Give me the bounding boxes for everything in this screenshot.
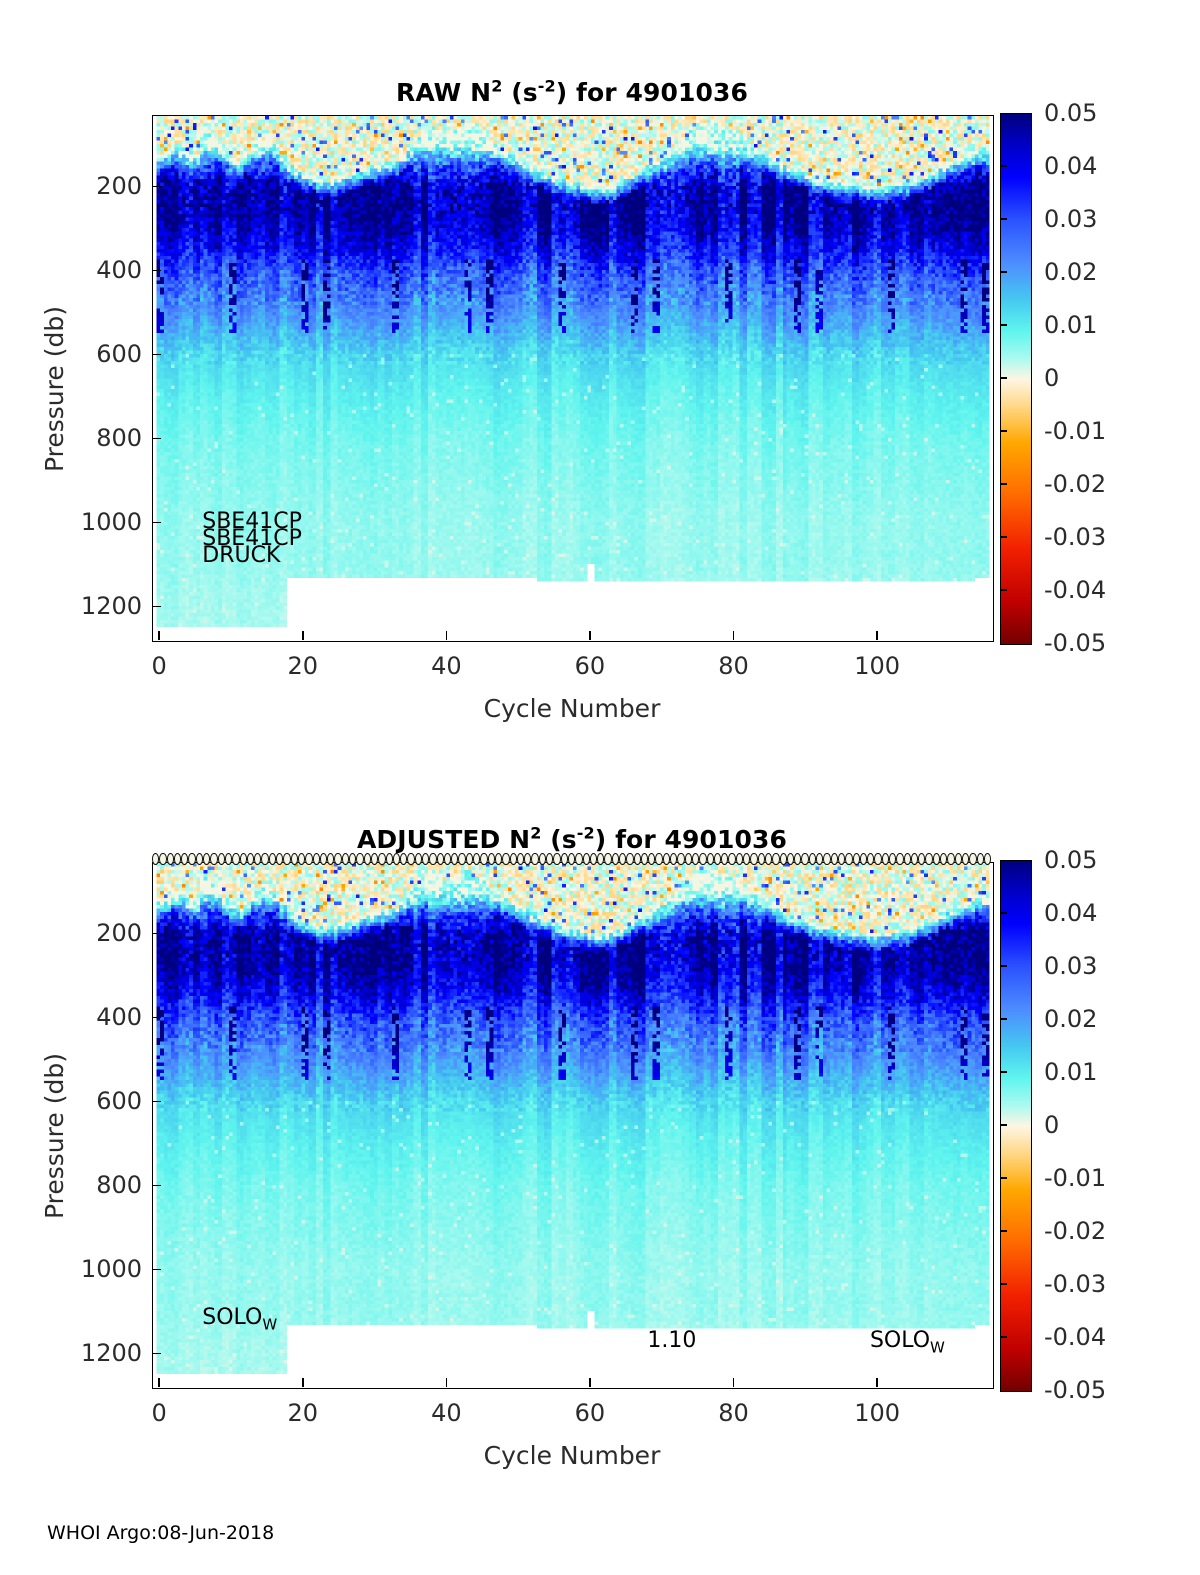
adjusted-yticklabel-1000: 1000: [54, 1255, 142, 1283]
raw-colorbar-label--0.03: -0.03: [1044, 523, 1106, 551]
adj-title-sup2: -2: [577, 824, 595, 843]
adjusted-xtick-40: [446, 1378, 448, 1387]
raw-ytick-1000: [152, 522, 161, 524]
adjusted-ytick-400: [152, 1017, 161, 1019]
adjusted-heatmap: [153, 863, 993, 1388]
raw-colorbar-tick-0.04: [1000, 165, 1007, 167]
raw-ytick-800: [152, 438, 161, 440]
adjusted-yaxis-title: Pressure (db): [40, 1053, 69, 1219]
adjusted-colorbar-label-0.03: 0.03: [1044, 952, 1097, 980]
adj-title-suffix: ) for 4901036: [595, 825, 787, 854]
raw-ytick-1200: [152, 606, 161, 608]
adjusted-annotation-subscript-2: W: [930, 1338, 945, 1356]
adj-title-sup1: 2: [530, 824, 541, 843]
adjusted-ytick-800: [152, 1185, 161, 1187]
raw-xticklabel-80: 80: [718, 652, 749, 680]
raw-panel-title: RAW N2 (s-2) for 4901036: [152, 78, 992, 107]
panel-adjusted: ADJUSTED N2 (s-2) for 4901036 0204060801…: [0, 745, 1200, 1535]
raw-yticklabel-400: 400: [54, 256, 142, 284]
adjusted-colorbar-label--0.04: -0.04: [1044, 1323, 1106, 1351]
raw-xticklabel-100: 100: [854, 652, 900, 680]
adjusted-colorbar-label-0.04: 0.04: [1044, 899, 1097, 927]
raw-title-mid: (s: [502, 78, 537, 107]
raw-colorbar-label-0.04: 0.04: [1044, 152, 1097, 180]
raw-colorbar-label--0.01: -0.01: [1044, 417, 1106, 445]
adjusted-xtick-20: [302, 1378, 304, 1387]
adjusted-yticklabel-1200: 1200: [54, 1339, 142, 1367]
raw-xtick-0: [158, 631, 160, 640]
figure-footer: WHOI Argo:08-Jun-2018: [47, 1522, 274, 1544]
raw-colorbar-label--0.02: -0.02: [1044, 470, 1106, 498]
raw-title-sup1: 2: [491, 77, 502, 96]
adjusted-xtick-60: [589, 1378, 591, 1387]
raw-yticklabel-1000: 1000: [54, 508, 142, 536]
adjusted-xticklabel-0: 0: [152, 1399, 167, 1427]
adjusted-panel-title: ADJUSTED N2 (s-2) for 4901036: [152, 825, 992, 854]
raw-colorbar-label-0: 0: [1044, 364, 1059, 392]
adjusted-plot-area[interactable]: [152, 862, 994, 1389]
adjusted-xtick-100: [876, 1378, 878, 1387]
raw-colorbar-label--0.05: -0.05: [1044, 629, 1106, 657]
adjusted-xtick-0: [158, 1378, 160, 1387]
adjusted-colorbar-tick-0: [1000, 1124, 1007, 1126]
raw-colorbar-tick--0.02: [1000, 483, 1007, 485]
raw-yticklabel-1200: 1200: [54, 592, 142, 620]
adjusted-yticklabel-400: 400: [54, 1003, 142, 1031]
raw-colorbar-tick-0: [1000, 377, 1007, 379]
raw-colorbar-label-0.02: 0.02: [1044, 258, 1097, 286]
adjusted-colorbar-tick-0.01: [1000, 1071, 1007, 1073]
raw-ytick-200: [152, 186, 161, 188]
raw-colorbar-tick--0.01: [1000, 430, 1007, 432]
adjusted-colorbar-tick--0.04: [1000, 1336, 1007, 1338]
raw-title-suffix: ) for 4901036: [556, 78, 748, 107]
raw-xtick-40: [446, 631, 448, 640]
raw-xticklabel-0: 0: [152, 652, 167, 680]
adjusted-colorbar[interactable]: [1000, 860, 1032, 1392]
adj-title-mid: (s: [541, 825, 576, 854]
adjusted-colorbar-label--0.01: -0.01: [1044, 1164, 1106, 1192]
raw-yaxis-title: Pressure (db): [40, 306, 69, 472]
panel-raw: RAW N2 (s-2) for 4901036 020406080100200…: [0, 0, 1200, 760]
raw-colorbar-label-0.01: 0.01: [1044, 311, 1097, 339]
adjusted-colorbar-label-0.01: 0.01: [1044, 1058, 1097, 1086]
adjusted-colorbar-tick-0.03: [1000, 965, 1007, 967]
adjusted-colorbar-label-0.05: 0.05: [1044, 846, 1097, 874]
raw-colorbar-tick-0.03: [1000, 218, 1007, 220]
raw-xtick-20: [302, 631, 304, 640]
adjusted-xticklabel-80: 80: [718, 1399, 749, 1427]
raw-colorbar-label--0.04: -0.04: [1044, 576, 1106, 604]
adjusted-colorbar-gradient: [1001, 861, 1031, 1391]
adjusted-annotation-solo-2: SOLOW: [870, 1327, 945, 1355]
adjusted-xtick-80: [733, 1378, 735, 1387]
adjusted-colorbar-label-0.02: 0.02: [1044, 1005, 1097, 1033]
raw-colorbar-tick--0.04: [1000, 589, 1007, 591]
adjusted-xticklabel-40: 40: [431, 1399, 462, 1427]
raw-xtick-80: [733, 631, 735, 640]
raw-xtick-100: [876, 631, 878, 640]
raw-colorbar-tick-0.01: [1000, 324, 1007, 326]
adjusted-colorbar-label-0: 0: [1044, 1111, 1059, 1139]
raw-ytick-600: [152, 354, 161, 356]
adjusted-colorbar-tick--0.01: [1000, 1177, 1007, 1179]
raw-colorbar-label-0.05: 0.05: [1044, 99, 1097, 127]
raw-title-sup2: -2: [538, 77, 556, 96]
adjusted-annotation-text-2: SOLO: [870, 1328, 930, 1353]
adjusted-colorbar-tick-0.04: [1000, 912, 1007, 914]
adjusted-ytick-1000: [152, 1269, 161, 1271]
adjusted-ytick-1200: [152, 1353, 161, 1355]
adjusted-xticklabel-60: 60: [575, 1399, 606, 1427]
adjusted-annotation-solo-0: SOLOW: [202, 1304, 277, 1332]
adjusted-xticklabel-100: 100: [854, 1399, 900, 1427]
adjusted-annotation-subscript-0: W: [262, 1315, 277, 1333]
raw-colorbar-tick--0.03: [1000, 536, 1007, 538]
adjusted-yticklabel-200: 200: [54, 919, 142, 947]
raw-colorbar[interactable]: [1000, 113, 1032, 645]
raw-colorbar-gradient: [1001, 114, 1031, 644]
raw-ytick-400: [152, 270, 161, 272]
adjusted-annotation-text-0: SOLO: [202, 1305, 262, 1330]
adjusted-xticklabel-20: 20: [287, 1399, 318, 1427]
raw-annotation-text-2: DRUCK: [202, 543, 280, 568]
adjusted-annotation-text-1: 1.10: [647, 1328, 696, 1353]
raw-xticklabel-20: 20: [287, 652, 318, 680]
adjusted-annotation-110-1: 1.10: [647, 1327, 696, 1355]
adj-title-prefix: ADJUSTED N: [357, 825, 530, 854]
adjusted-ytick-200: [152, 933, 161, 935]
raw-annotation-druck-2: DRUCK: [202, 542, 280, 570]
adjusted-colorbar-label--0.02: -0.02: [1044, 1217, 1106, 1245]
adjusted-xaxis-title: Cycle Number: [484, 1441, 661, 1470]
raw-colorbar-tick-0.02: [1000, 271, 1007, 273]
raw-xaxis-title: Cycle Number: [484, 694, 661, 723]
raw-xticklabel-40: 40: [431, 652, 462, 680]
adjusted-colorbar-tick--0.02: [1000, 1230, 1007, 1232]
adjusted-colorbar-tick-0.02: [1000, 1018, 1007, 1020]
adjusted-colorbar-tick--0.03: [1000, 1283, 1007, 1285]
raw-xtick-60: [589, 631, 591, 640]
adjusted-ytick-600: [152, 1101, 161, 1103]
raw-colorbar-label-0.03: 0.03: [1044, 205, 1097, 233]
adjusted-colorbar-label--0.03: -0.03: [1044, 1270, 1106, 1298]
adjusted-colorbar-label--0.05: -0.05: [1044, 1376, 1106, 1404]
raw-title-prefix: RAW N: [396, 78, 491, 107]
raw-yticklabel-200: 200: [54, 172, 142, 200]
raw-xticklabel-60: 60: [575, 652, 606, 680]
